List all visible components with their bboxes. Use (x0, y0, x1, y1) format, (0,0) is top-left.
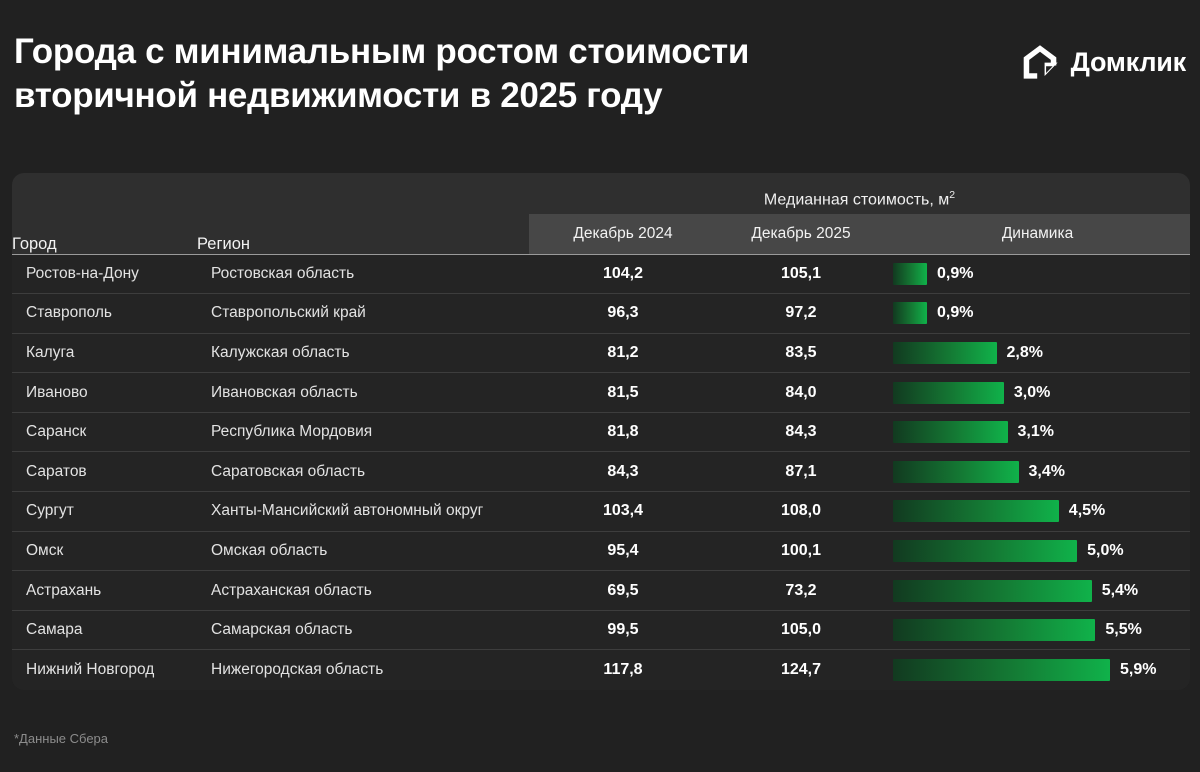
dynamics-value: 0,9% (937, 304, 973, 322)
dynamics-bar (893, 263, 927, 285)
cell-dynamics: 3,4% (885, 452, 1190, 492)
cell-city: Ставрополь (12, 294, 197, 334)
cell-region: Ханты-Мансийский автономный округ (197, 492, 529, 532)
dynamics-value: 3,0% (1014, 384, 1050, 402)
cell-dec-2024: 81,2 (529, 333, 717, 373)
cell-dec-2025: 105,1 (717, 254, 885, 294)
table-row: СаратовСаратовская область84,387,13,4% (12, 452, 1190, 492)
dynamics-bar (893, 382, 1004, 404)
cell-dec-2024: 117,8 (529, 650, 717, 690)
cell-dec-2025: 97,2 (717, 294, 885, 334)
cell-dec-2024: 99,5 (529, 610, 717, 650)
dynamics-bar (893, 302, 927, 324)
cell-region: Ставропольский край (197, 294, 529, 334)
table-header: Город Регион Медианная стоимость, м2 Дек… (12, 173, 1190, 254)
cell-dynamics: 5,4% (885, 571, 1190, 611)
column-header-dec-2024: Декабрь 2024 (529, 214, 717, 254)
cell-dec-2024: 69,5 (529, 571, 717, 611)
cell-dec-2024: 96,3 (529, 294, 717, 334)
square-meter-superscript: 2 (949, 189, 955, 201)
cell-region: Омская область (197, 531, 529, 571)
cell-dec-2024: 81,8 (529, 412, 717, 452)
table-row: Ростов-на-ДонуРостовская область104,2105… (12, 254, 1190, 294)
table-row: СаранскРеспублика Мордовия81,884,33,1% (12, 412, 1190, 452)
cell-dec-2025: 83,5 (717, 333, 885, 373)
cell-dynamics: 2,8% (885, 333, 1190, 373)
cell-city: Саранск (12, 412, 197, 452)
table-row: АстраханьАстраханская область69,573,25,4… (12, 571, 1190, 611)
cell-city: Сургут (12, 492, 197, 532)
column-header-median-price: Медианная стоимость, м2 (529, 173, 1190, 214)
table-row: СамараСамарская область99,5105,05,5% (12, 610, 1190, 650)
dynamics-value: 4,5% (1069, 502, 1105, 520)
cell-region: Астраханская область (197, 571, 529, 611)
cell-dec-2025: 124,7 (717, 650, 885, 690)
dynamics-value: 5,4% (1102, 582, 1138, 600)
table-header-group-row: Город Регион Медианная стоимость, м2 (12, 173, 1190, 214)
cell-city: Нижний Новгород (12, 650, 197, 690)
cell-dynamics: 5,5% (885, 610, 1190, 650)
cell-city: Саратов (12, 452, 197, 492)
cell-dec-2025: 108,0 (717, 492, 885, 532)
cell-dynamics: 5,9% (885, 650, 1190, 690)
column-header-city: Город (12, 173, 197, 254)
cities-price-table: Город Регион Медианная стоимость, м2 Дек… (12, 173, 1190, 690)
cell-dynamics: 3,1% (885, 412, 1190, 452)
cell-region: Ростовская область (197, 254, 529, 294)
cell-dec-2025: 87,1 (717, 452, 885, 492)
cell-city: Иваново (12, 373, 197, 413)
cell-region: Калужская область (197, 333, 529, 373)
dynamics-value: 5,9% (1120, 661, 1156, 679)
dynamics-value: 3,4% (1029, 463, 1065, 481)
cell-dynamics: 0,9% (885, 254, 1190, 294)
cell-dec-2024: 104,2 (529, 254, 717, 294)
cell-dec-2024: 95,4 (529, 531, 717, 571)
cell-city: Астрахань (12, 571, 197, 611)
dynamics-bar (893, 461, 1019, 483)
dynamics-value: 0,9% (937, 265, 973, 283)
cell-dec-2024: 81,5 (529, 373, 717, 413)
cell-dynamics: 0,9% (885, 294, 1190, 334)
cell-dec-2025: 84,0 (717, 373, 885, 413)
table-row: КалугаКалужская область81,283,52,8% (12, 333, 1190, 373)
dynamics-bar (893, 500, 1059, 522)
dynamics-value: 3,1% (1018, 423, 1054, 441)
brand-name: Домклик (1071, 47, 1186, 78)
dynamics-value: 2,8% (1007, 344, 1043, 362)
cell-dec-2024: 84,3 (529, 452, 717, 492)
cell-city: Самара (12, 610, 197, 650)
cell-region: Ивановская область (197, 373, 529, 413)
table-row: СтавропольСтавропольский край96,397,20,9… (12, 294, 1190, 334)
table-row: ИвановоИвановская область81,584,03,0% (12, 373, 1190, 413)
cell-region: Нижегородская область (197, 650, 529, 690)
footnote: *Данные Сбера (14, 731, 108, 746)
cell-city: Ростов-на-Дону (12, 254, 197, 294)
dynamics-value: 5,5% (1105, 621, 1141, 639)
cell-dynamics: 3,0% (885, 373, 1190, 413)
dynamics-bar (893, 580, 1092, 602)
column-header-region: Регион (197, 173, 529, 254)
table-body: Ростов-на-ДонуРостовская область104,2105… (12, 254, 1190, 690)
cell-dec-2025: 100,1 (717, 531, 885, 571)
domklik-house-cursor-logo-icon (1020, 42, 1060, 82)
brand-logo: Домклик (1020, 30, 1188, 82)
cell-region: Самарская область (197, 610, 529, 650)
cell-region: Саратовская область (197, 452, 529, 492)
cell-dec-2025: 73,2 (717, 571, 885, 611)
cell-dynamics: 5,0% (885, 531, 1190, 571)
cell-dec-2025: 84,3 (717, 412, 885, 452)
dynamics-value: 5,0% (1087, 542, 1123, 560)
dynamics-bar (893, 619, 1095, 641)
column-header-dynamics: Динамика (885, 214, 1190, 254)
page-header: Города с минимальным ростом стоимости вт… (0, 0, 1200, 150)
column-header-median-price-label: Медианная стоимость, м (764, 191, 949, 208)
column-header-dec-2025: Декабрь 2025 (717, 214, 885, 254)
table-row: ОмскОмская область95,4100,15,0% (12, 531, 1190, 571)
cell-dynamics: 4,5% (885, 492, 1190, 532)
cell-dec-2024: 103,4 (529, 492, 717, 532)
data-table-container: Город Регион Медианная стоимость, м2 Дек… (12, 173, 1190, 690)
table-row: Нижний НовгородНижегородская область117,… (12, 650, 1190, 690)
cell-city: Калуга (12, 333, 197, 373)
page-title: Города с минимальным ростом стоимости вт… (14, 30, 749, 118)
cell-dec-2025: 105,0 (717, 610, 885, 650)
dynamics-bar (893, 342, 997, 364)
cell-region: Республика Мордовия (197, 412, 529, 452)
table-row: СургутХанты-Мансийский автономный округ1… (12, 492, 1190, 532)
dynamics-bar (893, 421, 1008, 443)
dynamics-bar (893, 659, 1110, 681)
cell-city: Омск (12, 531, 197, 571)
dynamics-bar (893, 540, 1077, 562)
